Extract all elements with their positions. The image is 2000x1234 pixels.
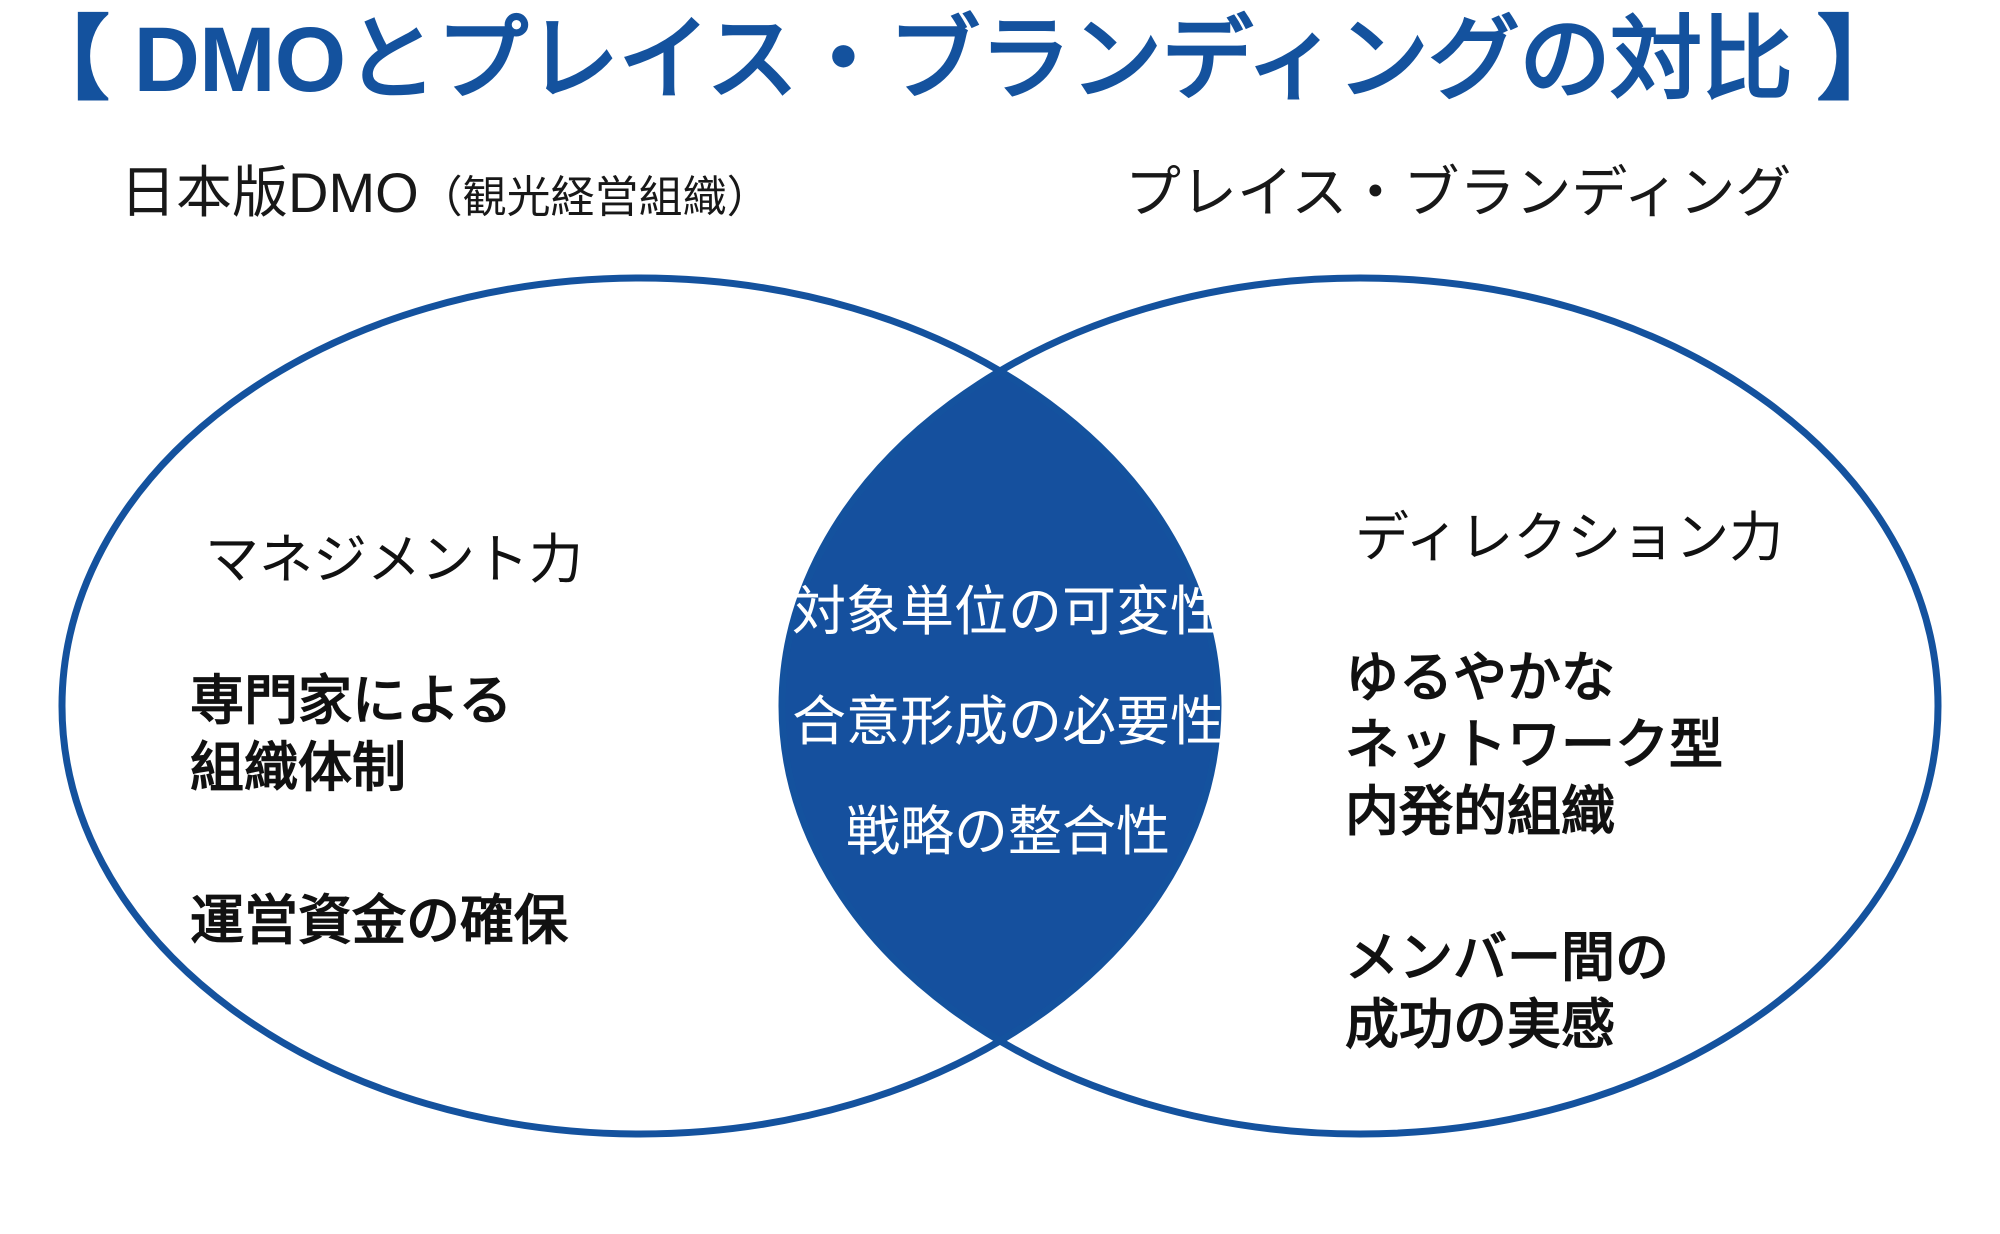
right-item-line: メンバー間の [1345, 925, 1669, 992]
overlap-items: 対象単位の可変性 合意形成の必要性 戦略の整合性 [748, 585, 1268, 859]
left-item-line: マネジメント力 [205, 527, 583, 594]
diagram-canvas: 【 DMOとプレイス・ブランディングの対比 】 日本版DMO（観光経営組織） プ… [0, 0, 2000, 1234]
left-item-line: 専門家による [190, 668, 512, 735]
right-item: メンバー間の 成功の実感 [1345, 925, 1669, 1059]
right-item-line: ゆるやかな [1345, 645, 1723, 712]
right-item-line: 成功の実感 [1345, 992, 1669, 1059]
right-item: ゆるやかな ネットワーク型 内発的組織 [1345, 645, 1723, 846]
left-item-line: 運営資金の確保 [190, 888, 568, 955]
left-item: 専門家による 組織体制 [190, 668, 512, 802]
left-item-line: 組織体制 [190, 735, 512, 802]
right-item: ディレクション力 [1355, 505, 1783, 572]
overlap-item: 戦略の整合性 [748, 805, 1268, 859]
right-item-line: 内発的組織 [1345, 779, 1723, 846]
left-item: 運営資金の確保 [190, 888, 568, 955]
right-item-line: ネットワーク型 [1345, 712, 1723, 779]
left-item: マネジメント力 [205, 527, 583, 594]
right-item-line: ディレクション力 [1355, 505, 1783, 572]
overlap-item: 合意形成の必要性 [748, 695, 1268, 749]
overlap-item: 対象単位の可変性 [748, 585, 1268, 639]
